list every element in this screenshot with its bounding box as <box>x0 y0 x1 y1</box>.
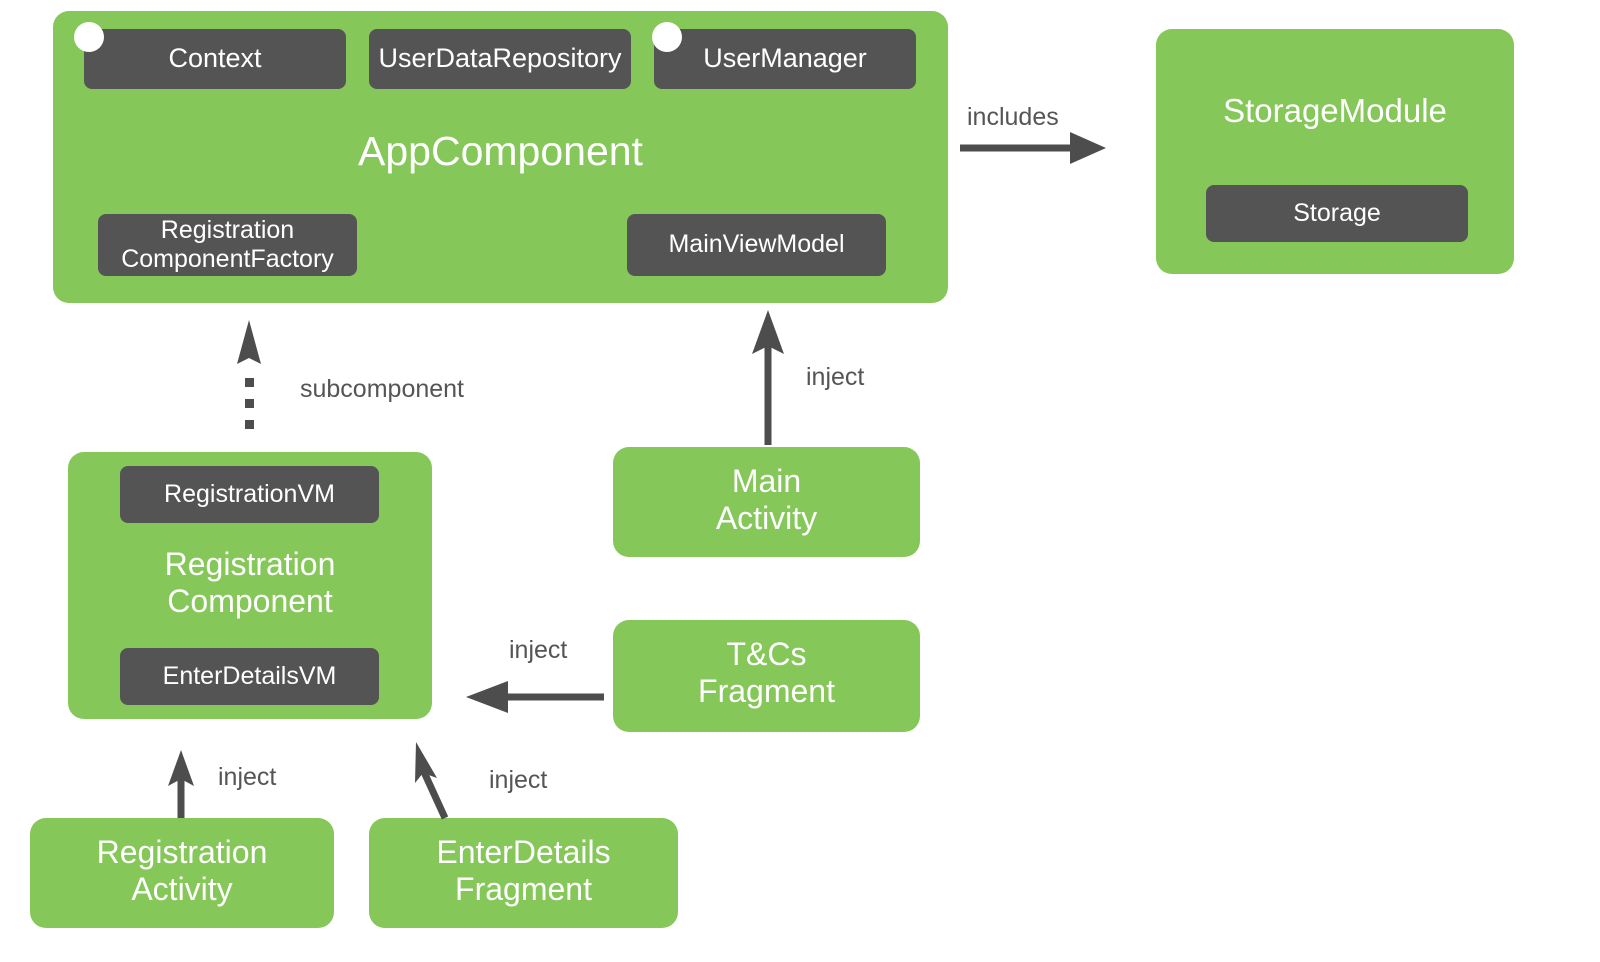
includes-arrow-icon <box>958 128 1108 168</box>
edge-label-inject-main-activity: inject <box>806 363 864 392</box>
enterdetails-fragment-label: EnterDetails Fragment <box>369 834 678 908</box>
inject-arrow-icon-registration-activity <box>164 750 204 818</box>
main-activity-label: Main Activity <box>613 463 920 537</box>
inject-arrow-icon-enterdetails-fragment <box>404 742 460 818</box>
subcomponent-arrow-icon <box>232 320 272 440</box>
binding-main-view-model[interactable]: MainViewModel <box>627 214 886 276</box>
tcs-fragment-label: T&Cs Fragment <box>613 636 920 710</box>
binding-registration-component-factory[interactable]: Registration ComponentFactory <box>98 214 357 276</box>
edge-label-inject-registration-activity: inject <box>218 763 276 792</box>
binding-user-manager[interactable]: UserManager <box>654 29 916 89</box>
storage-module-label: StorageModule <box>1156 92 1514 130</box>
edge-label-includes: includes <box>967 103 1059 132</box>
binding-storage[interactable]: Storage <box>1206 185 1468 242</box>
edge-label-inject-enterdetails-fragment: inject <box>489 766 547 795</box>
inject-arrow-icon-main-activity <box>750 310 794 445</box>
entry-point-dot-icon-context <box>74 22 104 52</box>
diagram-canvas: Context UserDataRepository UserManager A… <box>0 0 1600 962</box>
binding-user-data-repository[interactable]: UserDataRepository <box>369 29 631 89</box>
app-component-label: AppComponent <box>53 128 948 176</box>
registration-component-label: Registration Component <box>68 546 432 620</box>
binding-context[interactable]: Context <box>84 29 346 89</box>
binding-registration-vm[interactable]: RegistrationVM <box>120 466 379 523</box>
inject-arrow-icon-tcs-fragment <box>466 680 606 714</box>
registration-activity-label: Registration Activity <box>30 834 334 908</box>
edge-label-inject-tcs-fragment: inject <box>509 636 567 665</box>
binding-enter-details-vm[interactable]: EnterDetailsVM <box>120 648 379 705</box>
edge-label-subcomponent: subcomponent <box>300 375 464 404</box>
entry-point-dot-icon-user-manager <box>652 22 682 52</box>
